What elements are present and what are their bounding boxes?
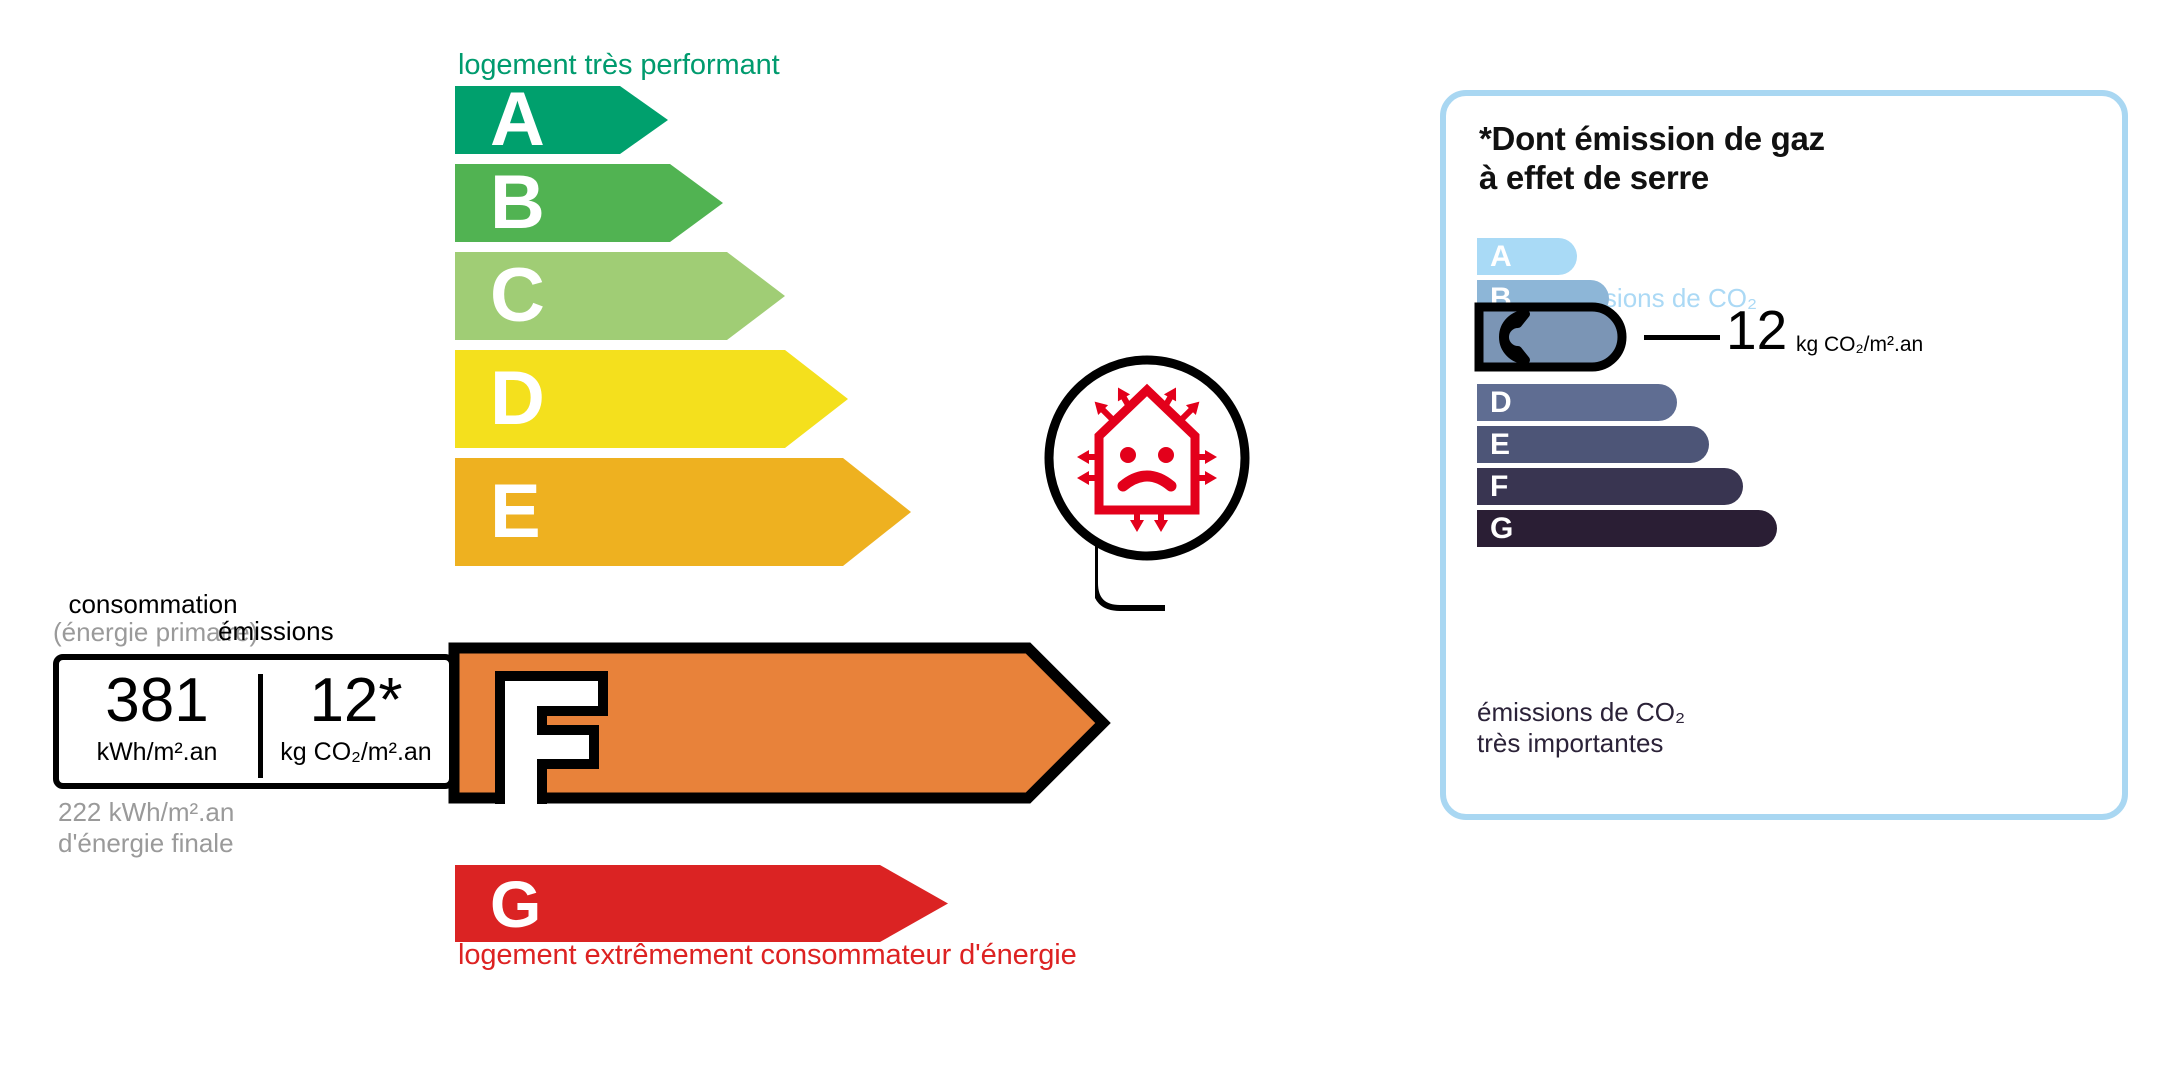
co2-panel-title: *Dont émission de gaz à effet de serre — [1479, 120, 1825, 198]
emissions-header: émissions — [218, 617, 334, 645]
co2-bar-d-letter: D — [1490, 388, 1512, 418]
band-e-letter: E — [490, 474, 541, 550]
final-energy-line1: 222 kWh/m².an — [58, 797, 234, 828]
band-g-letter: G — [490, 871, 541, 937]
co2-bottom-caption-line2: très importantes — [1477, 728, 1685, 759]
co2-bottom-caption-line1: émissions de CO₂ — [1477, 697, 1685, 728]
energy-band-b[interactable]: B — [455, 164, 723, 242]
co2-value-unit: kg CO₂/m².an — [1796, 333, 1923, 357]
co2-title-line2: à effet de serre — [1479, 159, 1825, 198]
energy-band-f-current[interactable]: F — [448, 642, 1115, 804]
scale-bottom-caption: logement extrêmement consommateur d'éner… — [458, 939, 1077, 972]
co2-value-leader-line — [1644, 335, 1720, 340]
band-a-letter: A — [490, 82, 545, 158]
dpe-diagram: logement très performant A B C — [0, 0, 2169, 1079]
band-a-shape — [455, 86, 668, 154]
co2-bar-f-letter: F — [1490, 472, 1508, 502]
co2-bar-g[interactable]: G — [1477, 510, 1777, 547]
co2-title-line1: *Dont émission de gaz — [1479, 120, 1825, 159]
consumption-header-main: consommation — [68, 589, 237, 619]
band-c-letter: C — [490, 258, 545, 334]
house-heat-loss-sad-icon — [1043, 354, 1251, 562]
energy-band-c[interactable]: C — [455, 252, 785, 340]
value-readout-box: 381 kWh/m².an 12* kg CO₂/m².an — [53, 654, 455, 789]
co2-bar-e-letter: E — [1490, 430, 1510, 460]
co2-bar-g-letter: G — [1490, 514, 1513, 544]
emissions-unit: kg CO₂/m².an — [263, 740, 449, 765]
co2-value: 12 — [1726, 303, 1787, 358]
consumption-unit: kWh/m².an — [59, 740, 255, 765]
co2-bottom-caption: émissions de CO₂ très importantes — [1477, 697, 1685, 759]
energy-band-g[interactable]: G — [455, 865, 948, 942]
energy-band-e[interactable]: E — [455, 458, 911, 566]
band-b-letter: B — [490, 165, 545, 241]
energy-band-d[interactable]: D — [455, 350, 848, 448]
consumption-value-cell: 381 kWh/m².an — [59, 660, 255, 783]
final-energy-note: 222 kWh/m².an d'énergie finale — [58, 797, 234, 858]
final-energy-line2: d'énergie finale — [58, 828, 234, 859]
co2-bar-a-letter: A — [1490, 242, 1512, 272]
consumption-value: 381 — [59, 670, 255, 732]
emissions-value: 12* — [263, 670, 449, 732]
co2-emissions-panel: *Dont émission de gaz à effet de serre p… — [1440, 90, 2128, 820]
band-f-shape — [448, 642, 1115, 804]
co2-bar-d[interactable]: D — [1477, 384, 1677, 421]
band-d-letter: D — [490, 361, 545, 437]
co2-bar-e[interactable]: E — [1477, 426, 1709, 463]
energy-performance-scale: logement très performant A B C — [0, 0, 1330, 1079]
co2-bar-a[interactable]: A — [1477, 238, 1577, 275]
energy-band-a[interactable]: A — [455, 86, 668, 154]
co2-bar-c-current[interactable] — [1474, 302, 1627, 372]
emissions-value-cell: 12* kg CO₂/m².an — [263, 660, 449, 783]
co2-bar-f[interactable]: F — [1477, 468, 1743, 505]
